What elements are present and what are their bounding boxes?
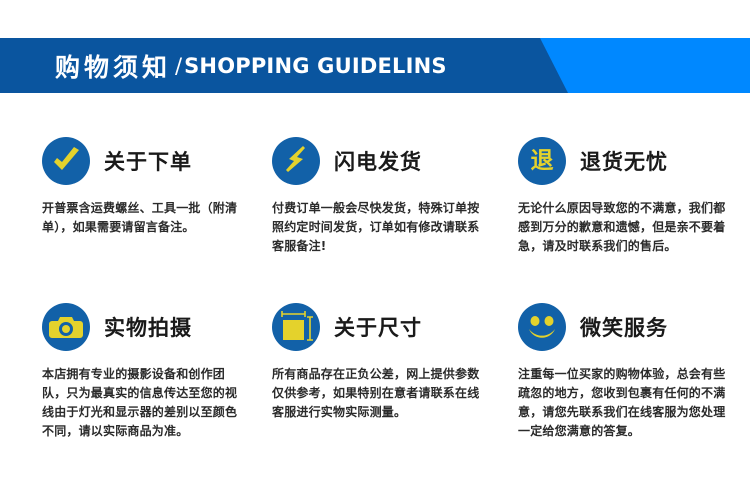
card-body-text: 付费订单一般会尽快发货，特殊订单按照约定时间发货，订单如有修改请联系客服备注! (272, 199, 486, 256)
ruler-size-icon (272, 303, 320, 351)
card-header: 实物拍摄 (42, 298, 238, 356)
card-header: 退 退货无忧 (518, 132, 734, 190)
card-header: 闪电发货 (272, 132, 486, 190)
card-header: 关于尺寸 (272, 298, 486, 356)
guideline-card-real-photos: 实物拍摄 本店拥有专业的摄影设备和创作团队，只为最真实的信息传达至您的视线由于灯… (0, 298, 250, 441)
card-title: 实物拍摄 (104, 312, 192, 342)
page-title-separator: / (175, 54, 182, 78)
guideline-card-size: 关于尺寸 所有商品存在正负公差，网上提供参数仅供参考，如果特别在意者请联系在线客… (250, 298, 500, 441)
card-body-text: 所有商品存在正负公差，网上提供参数仅供参考，如果特别在意者请联系在线客服进行实物… (272, 365, 486, 422)
card-body-text: 本店拥有专业的摄影设备和创作团队，只为最真实的信息传达至您的视线由于灯光和显示器… (42, 365, 238, 441)
card-title: 闪电发货 (334, 146, 422, 176)
card-body-text: 无论什么原因导致您的不满意，我们都感到万分的歉意和遗憾，但是亲不要着急，请及时联… (518, 199, 734, 256)
card-title: 关于下单 (104, 146, 192, 176)
shopping-guidelines-page: 购物须知 / SHOPPING GUIDELINS 关于下单 开普票含运费螺丝、… (0, 0, 750, 478)
header-banner: 购物须知 / SHOPPING GUIDELINS (0, 38, 750, 93)
guideline-card-smile-service: 微笑服务 注重每一位买家的购物体验，总会有些疏忽的地方，您收到包裹有任何的不满意… (500, 298, 750, 441)
page-title-en: SHOPPING GUIDELINS (184, 54, 447, 78)
card-body-text: 开普票含运费螺丝、工具一批（附清单），如果需要请留言备注。 (42, 199, 238, 237)
card-title: 退货无忧 (580, 146, 668, 176)
card-header: 关于下单 (42, 132, 238, 190)
page-title-cn: 购物须知 (55, 48, 171, 84)
guideline-card-ordering: 关于下单 开普票含运费螺丝、工具一批（附清单），如果需要请留言备注。 (0, 132, 250, 256)
card-title: 微笑服务 (580, 312, 668, 342)
guideline-card-returns: 退 退货无忧 无论什么原因导致您的不满意，我们都感到万分的歉意和遗憾，但是亲不要… (500, 132, 750, 256)
check-icon (42, 137, 90, 185)
card-body-text: 注重每一位买家的购物体验，总会有些疏忽的地方，您收到包裹有任何的不满意，请您先联… (518, 365, 734, 441)
card-title: 关于尺寸 (334, 312, 422, 342)
lightning-icon (272, 137, 320, 185)
guideline-card-fast-shipping: 闪电发货 付费订单一般会尽快发货，特殊订单按照约定时间发货，订单如有修改请联系客… (250, 132, 500, 256)
guideline-card-grid: 关于下单 开普票含运费螺丝、工具一批（附清单），如果需要请留言备注。 闪电发货 … (0, 132, 750, 441)
return-icon: 退 (518, 137, 566, 185)
camera-icon (42, 303, 90, 351)
return-icon-label: 退 (518, 137, 566, 185)
smile-icon (518, 303, 566, 351)
card-header: 微笑服务 (518, 298, 734, 356)
page-title: 购物须知 / SHOPPING GUIDELINS (55, 38, 447, 93)
